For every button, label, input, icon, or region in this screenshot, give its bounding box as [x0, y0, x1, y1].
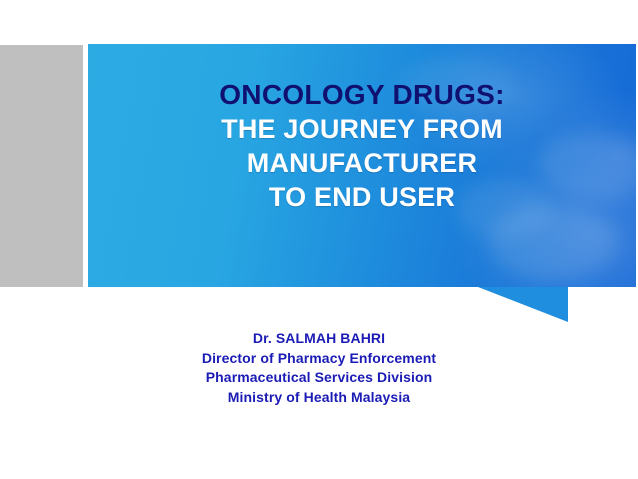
cloud-texture-icon — [488, 203, 618, 281]
presenter-division: Pharmaceutical Services Division — [0, 368, 638, 388]
presenter-name: Dr. SALMAH BAHRI — [0, 329, 638, 349]
presenter-organization: Ministry of Health Malaysia — [0, 388, 638, 408]
banner-tail-pointer — [478, 287, 568, 323]
title-line-3: MANUFACTURER — [88, 146, 636, 180]
title-line-2: THE JOURNEY FROM — [88, 112, 636, 146]
presenter-block: Dr. SALMAH BAHRI Director of Pharmacy En… — [0, 329, 638, 407]
title-slide: ONCOLOGY DRUGS: THE JOURNEY FROM MANUFAC… — [0, 0, 638, 479]
title-line-1: ONCOLOGY DRUGS: — [88, 78, 636, 112]
presenter-role: Director of Pharmacy Enforcement — [0, 349, 638, 369]
page-title: ONCOLOGY DRUGS: THE JOURNEY FROM MANUFAC… — [88, 78, 636, 214]
title-line-4: TO END USER — [88, 180, 636, 214]
grey-accent-bar — [0, 45, 83, 287]
